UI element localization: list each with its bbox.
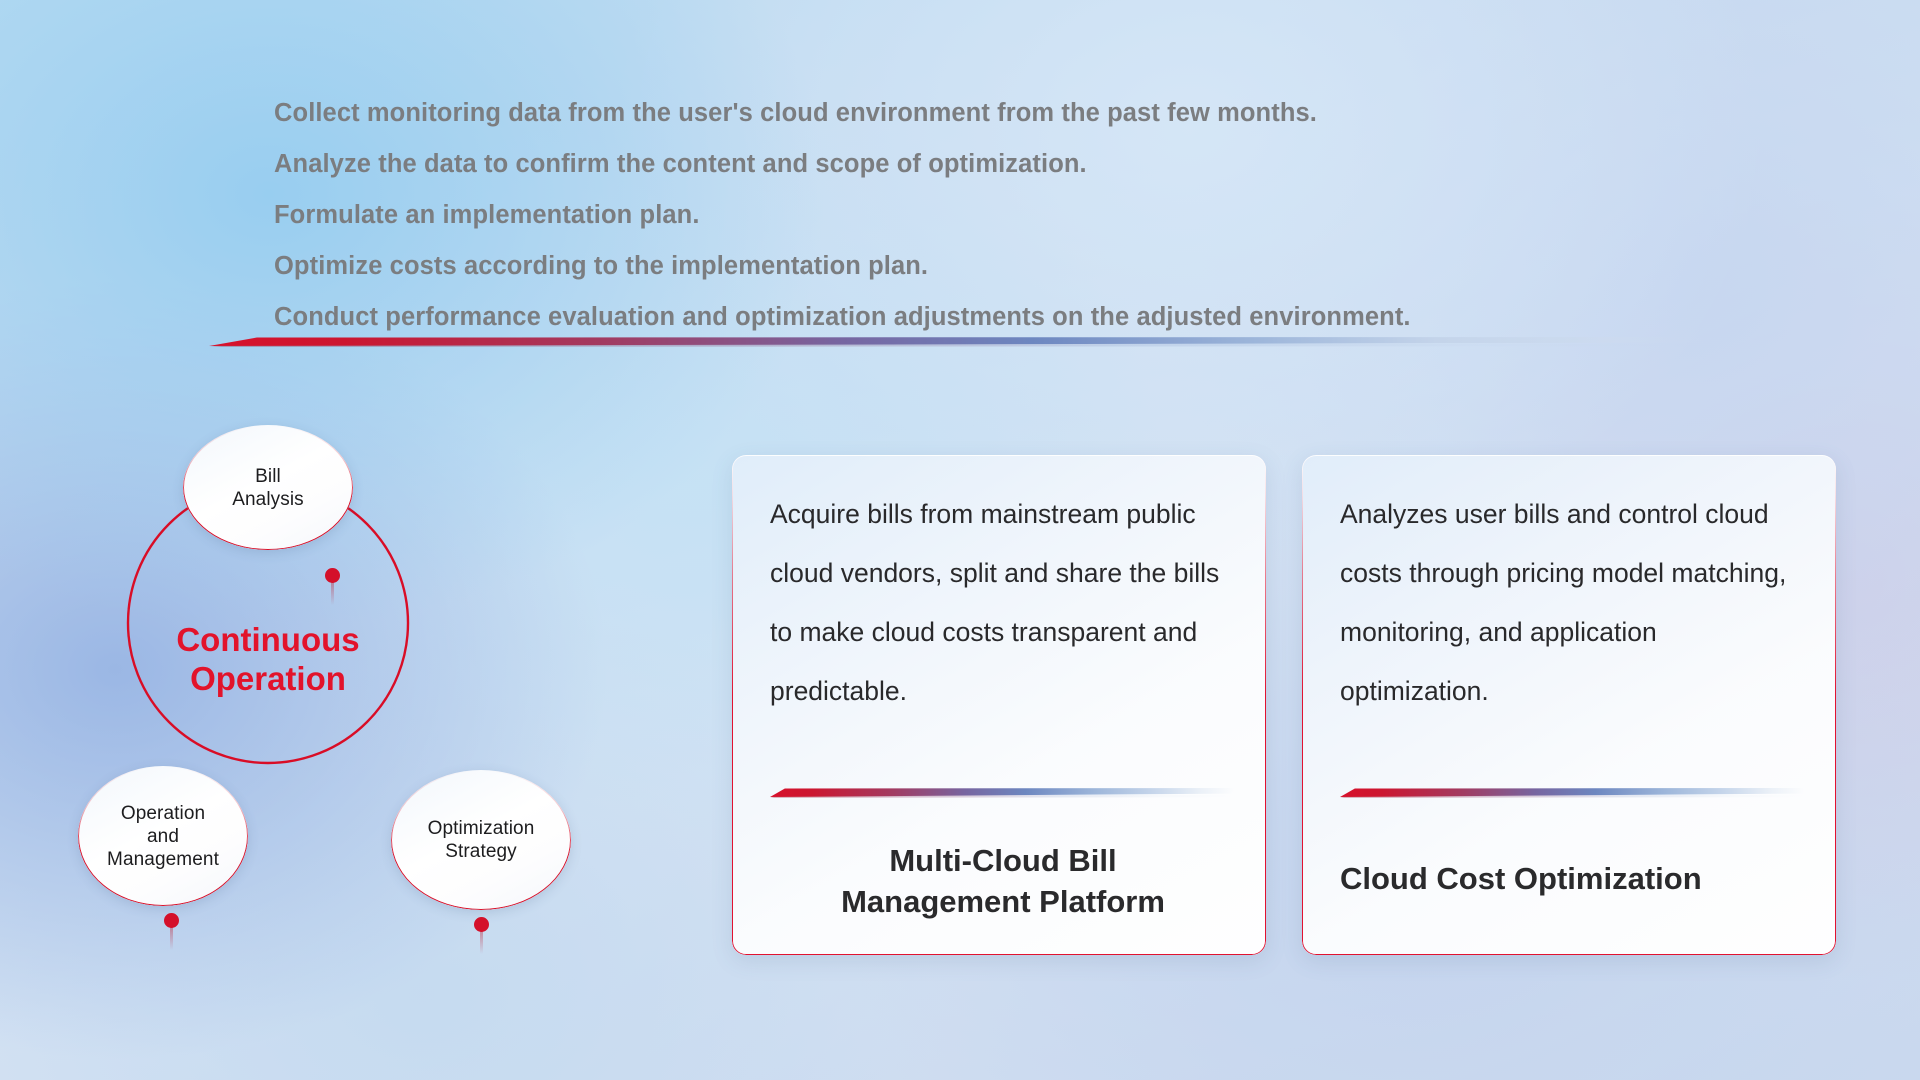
- bubble-label-line-3: Management: [107, 848, 219, 871]
- bubble-label-line-1: Operation: [107, 802, 219, 825]
- process-step-2: Analyze the data to confirm the content …: [274, 139, 1634, 190]
- card-description: Acquire bills from mainstream public clo…: [770, 485, 1234, 721]
- bubble-label-line-2: Strategy: [428, 840, 535, 863]
- bubble-label-group: Operation and Management: [107, 802, 219, 871]
- card-title-line-2: Management Platform: [770, 881, 1236, 922]
- card-title: Multi-Cloud Bill Management Platform: [770, 840, 1236, 922]
- bill-analysis-node-dot: [325, 568, 340, 583]
- bubble-label-group: Optimization Strategy: [428, 817, 535, 863]
- process-step-4: Optimize costs according to the implemen…: [274, 241, 1634, 292]
- diagram-center-label: Continuous Operation: [123, 620, 413, 698]
- diagram-node-optimization-strategy[interactable]: Optimization Strategy: [391, 770, 571, 910]
- card-title-line-1: Cloud Cost Optimization: [1340, 858, 1806, 899]
- card-description: Analyzes user bills and control cloud co…: [1340, 485, 1804, 721]
- diagram-node-bill-analysis[interactable]: Bill Analysis: [183, 425, 353, 550]
- section-divider-rule: [209, 337, 1706, 351]
- center-label-line-1: Continuous: [123, 620, 413, 659]
- card-description-block: Acquire bills from mainstream public clo…: [770, 485, 1234, 721]
- card-divider-rule: [1340, 788, 1804, 802]
- process-step-5: Conduct performance evaluation and optim…: [274, 292, 1634, 343]
- process-step-3: Formulate an implementation plan.: [274, 190, 1634, 241]
- bubble-label-line-2: Analysis: [232, 488, 304, 511]
- center-label-line-2: Operation: [123, 659, 413, 698]
- process-step-1: Collect monitoring data from the user's …: [274, 88, 1634, 139]
- feature-card-multi-cloud-bill-management-platform[interactable]: Acquire bills from mainstream public clo…: [732, 455, 1266, 955]
- process-steps-list: Collect monitoring data from the user's …: [274, 88, 1634, 343]
- optimization-strategy-node-dot: [474, 917, 489, 932]
- bubble-label-line-2: and: [107, 825, 219, 848]
- card-title-line-1: Multi-Cloud Bill: [770, 840, 1236, 881]
- bubble-label-line-1: Bill: [232, 465, 304, 488]
- operation-management-node-dot: [164, 913, 179, 928]
- card-title: Cloud Cost Optimization: [1340, 858, 1806, 899]
- card-description-block: Analyzes user bills and control cloud co…: [1340, 485, 1804, 721]
- card-divider-rule: [770, 788, 1234, 802]
- feature-card-cloud-cost-optimization[interactable]: Analyzes user bills and control cloud co…: [1302, 455, 1836, 955]
- bubble-label-group: Bill Analysis: [232, 465, 304, 511]
- bubble-label-line-1: Optimization: [428, 817, 535, 840]
- diagram-node-operation-and-management[interactable]: Operation and Management: [78, 766, 248, 906]
